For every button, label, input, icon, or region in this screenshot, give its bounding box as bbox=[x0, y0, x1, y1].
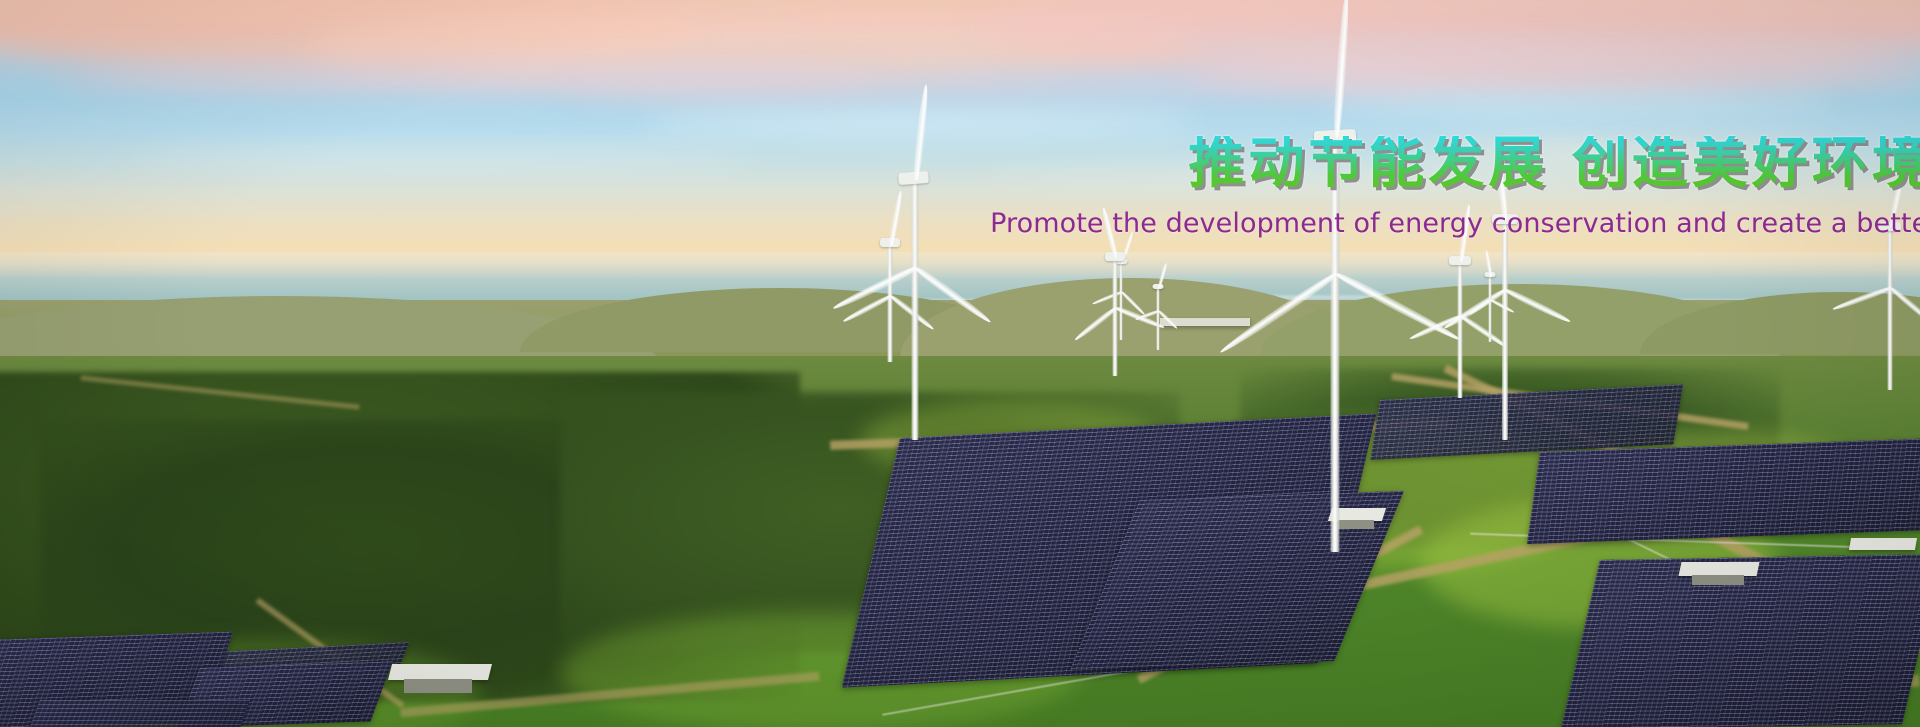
turbine-tower bbox=[1331, 142, 1340, 552]
hero-banner: 推动节能发展 创造美好环境 Promote the development of… bbox=[0, 0, 1920, 727]
wind-turbine bbox=[1462, 262, 1518, 342]
turbine-blade bbox=[1073, 306, 1118, 343]
banner-subtitle-english: Promote the development of energy conser… bbox=[0, 208, 1920, 239]
turbine-blade bbox=[1158, 310, 1179, 330]
turbine-blade bbox=[1832, 285, 1892, 312]
service-building-wall bbox=[1692, 575, 1744, 585]
turbine-blade bbox=[1490, 298, 1515, 314]
turbine-blade bbox=[914, 265, 993, 326]
wind-turbine bbox=[1130, 274, 1186, 350]
turbine-tower bbox=[1888, 230, 1893, 390]
service-building bbox=[1679, 562, 1760, 576]
turbine-tower bbox=[1157, 288, 1160, 350]
service-building bbox=[1849, 538, 1917, 550]
banner-headline-text: 推动节能发展 创造美好环境 bbox=[1188, 136, 1920, 192]
turbine-tower bbox=[1113, 258, 1118, 376]
solar-panel-array bbox=[1527, 438, 1920, 544]
banner-headline-chinese: 推动节能发展 创造美好环境 bbox=[0, 136, 1920, 192]
solar-panel-array bbox=[29, 700, 250, 727]
service-building-wall bbox=[404, 679, 472, 693]
service-building bbox=[388, 664, 492, 680]
turbine-tower bbox=[1489, 276, 1492, 342]
turbine-blade bbox=[1218, 270, 1339, 356]
turbine-blade bbox=[832, 264, 918, 312]
turbine-blade bbox=[1889, 286, 1920, 330]
